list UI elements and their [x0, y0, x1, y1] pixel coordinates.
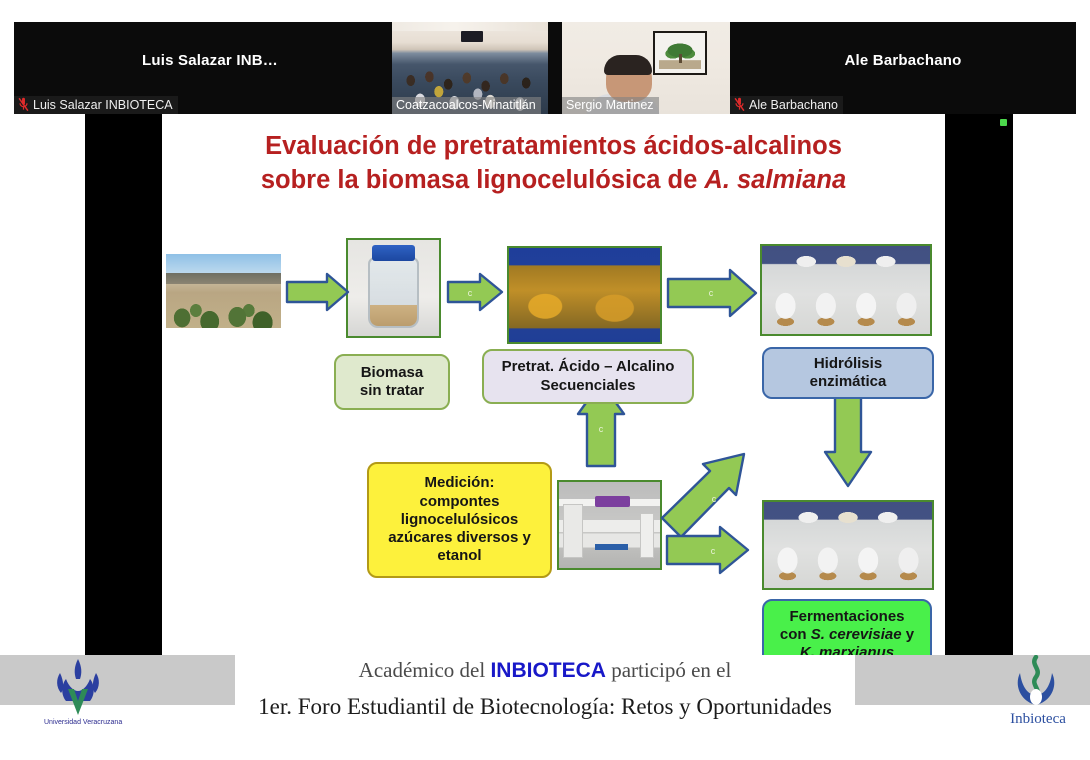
participant-namebar: Coatzacoalcos-Minatitlán — [392, 97, 541, 114]
box-line-1: Fermentaciones — [789, 608, 904, 625]
participant-name-text: Sergio Martinez — [566, 98, 654, 112]
arrow-equipment-to-fermentation — [667, 527, 748, 573]
box-line-1: Pretrat. Ácido – Alcalino — [502, 358, 675, 375]
box-line-5: etanol — [437, 547, 481, 564]
hill-ridge — [166, 273, 281, 283]
ceiling-band — [392, 22, 548, 31]
box-biomasa-sin-tratar: Biomasa sin tratar — [334, 354, 450, 410]
arrow-glyph: c — [709, 288, 714, 298]
enzymatic-hydrolysis-flasks-photo — [760, 244, 932, 336]
box-line-2-prefix: con — [780, 626, 811, 643]
inbioteca-emblem-icon — [990, 655, 1082, 713]
box-line-3: lignocelulósicos — [401, 511, 519, 528]
arrow-glyph: c — [712, 494, 717, 504]
arrow-glyph: c — [599, 424, 604, 434]
inbioteca-logo: Inbioteca — [990, 655, 1082, 735]
slide-title-line1: Evaluación de pretratamientos ácidos-alc… — [265, 132, 842, 160]
arrow-glyph: c — [711, 546, 716, 556]
hplc-side-unit — [640, 513, 654, 558]
banner-brand-inbioteca: INBIOTECA — [490, 659, 606, 682]
blue-cap — [372, 245, 416, 261]
box-line-4: azúcares diversos y — [388, 529, 531, 546]
uv-logo-caption: Universidad Veracruzana — [44, 719, 214, 726]
box-line-2: Secuenciales — [540, 377, 635, 394]
participant-tile-ale-barbachano[interactable]: Ale Barbachano Ale Barbachano — [730, 22, 1076, 114]
participant-namebar: Sergio Martinez — [562, 97, 659, 114]
universidad-veracruzana-logo: Universidad Veracruzana — [30, 657, 126, 733]
arrow-pretreatment-to-hydrolysis — [668, 270, 756, 316]
inbioteca-logo-caption: Inbioteca — [988, 711, 1088, 728]
participant-namebar: Luis Salazar INBIOTECA — [14, 96, 178, 114]
box-pretratamiento: Pretrat. Ácido – Alcalino Secuenciales — [482, 349, 694, 404]
banner-line-1-suffix: participó en el — [606, 658, 731, 682]
projector-screen — [461, 31, 483, 42]
banner-line-2: 1er. Foro Estudiantil de Biotecnología: … — [0, 694, 1090, 720]
slide-title-line2: sobre la biomasa lignocelulósica de A. s… — [261, 166, 846, 194]
participant-display-name: Ale Barbachano — [730, 52, 1076, 69]
participant-name-text: Ale Barbachano — [749, 98, 838, 112]
acid-alkaline-flasks-photo — [507, 246, 662, 344]
banner-line-1-prefix: Académico del — [359, 658, 491, 682]
box-line-2: sin tratar — [360, 382, 424, 399]
biomass-bottle-photo — [346, 238, 441, 338]
box-line-1: Biomasa — [361, 364, 424, 381]
participant-display-name: Luis Salazar INB… — [14, 52, 406, 69]
arrow-equipment-to-hydrolysis-diagonal — [662, 454, 744, 537]
uv-emblem-icon — [30, 657, 126, 721]
participant-tile-coatzacoalcos-minatitlan[interactable]: Coatzacoalcos-Minatitlán — [392, 22, 548, 114]
participant-tile-sergio-martinez[interactable]: Sergio Martinez — [562, 22, 730, 114]
screen-share-active-dot — [1000, 119, 1007, 126]
participant-tile-luis-salazar[interactable]: Luis Salazar INB… Luis Salazar INBIOTECA — [14, 22, 406, 114]
screen-root: Luis Salazar INB… Luis Salazar INBIOTECA… — [0, 0, 1090, 760]
box-line-2: compontes — [419, 493, 499, 510]
box-line-2-species: S. cerevisiae — [811, 626, 902, 643]
participant-namebar: Ale Barbachano — [730, 96, 843, 114]
arrow-glyph: c — [468, 288, 473, 298]
participant-name-text: Coatzacoalcos-Minatitlán — [396, 98, 536, 112]
banner-line-1: Académico del INBIOTECA participó en el — [0, 658, 1090, 683]
hplc-purple-module — [595, 496, 629, 507]
tree-artwork — [659, 37, 701, 69]
participant-name-text: Luis Salazar INBIOTECA — [33, 98, 173, 112]
box-line-1: Hidrólisis — [814, 355, 882, 372]
microphone-muted-icon — [18, 97, 29, 112]
person-hair — [604, 55, 652, 75]
arrow-biomass-to-pretreatment — [448, 274, 502, 310]
wall-picture-frame — [653, 31, 707, 75]
box-line-2: enzimática — [810, 373, 887, 390]
microphone-muted-icon — [734, 97, 745, 112]
fermentation-flasks-photo — [762, 500, 934, 590]
hplc-solvent-cabinet — [563, 504, 583, 557]
box-hidrolisis-enzimatica: Hidrólisis enzimática — [762, 347, 934, 399]
slide-title: Evaluación de pretratamientos ácidos-alc… — [182, 130, 925, 198]
box-line-2-suffix: y — [902, 626, 915, 643]
hplc-display-panel — [595, 544, 627, 550]
presentation-slide: Evaluación de pretratamientos ácidos-alc… — [162, 114, 945, 696]
hplc-equipment-photo — [557, 480, 662, 570]
arrow-agave-to-biomass — [287, 274, 348, 310]
box-medicion: Medición: compontes lignocelulósicos azú… — [367, 462, 552, 578]
biomass-powder — [370, 305, 417, 326]
box-line-1: Medición: — [425, 474, 495, 491]
agave-field-photo — [166, 254, 281, 328]
species-name-italic: A. salmiana — [704, 166, 846, 194]
zoom-participant-strip: Luis Salazar INB… Luis Salazar INBIOTECA… — [14, 22, 1076, 114]
